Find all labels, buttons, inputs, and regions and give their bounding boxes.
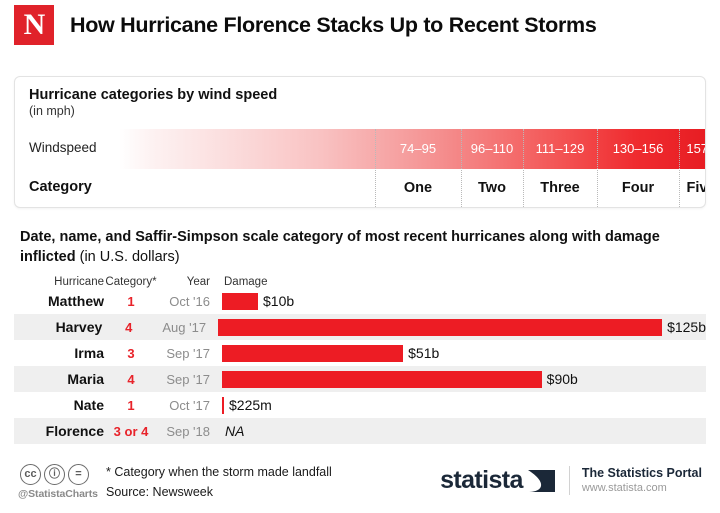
table-row: Irma3Sep '17$51b bbox=[14, 340, 706, 366]
damage-bar bbox=[222, 293, 258, 310]
category-four: Four bbox=[597, 169, 679, 208]
column-header-category: Category* bbox=[104, 276, 158, 288]
statista-wordmark: statista bbox=[440, 468, 523, 493]
cell-damage: $125b bbox=[218, 314, 706, 340]
windspeed-range-three: 111–129 bbox=[523, 129, 597, 169]
windspeed-row-label: Windspeed bbox=[29, 140, 97, 155]
panel-title: Hurricane categories by wind speed bbox=[15, 77, 705, 104]
column-header-damage: Damage bbox=[214, 276, 267, 288]
section-title-light: (in U.S. dollars) bbox=[80, 249, 180, 265]
cell-damage: $51b bbox=[222, 340, 706, 366]
cell-year: Sep '17 bbox=[158, 372, 214, 387]
statista-tagline-block: The Statistics Portal www.statista.com bbox=[569, 466, 702, 495]
section-title: Date, name, and Saffir-Simpson scale cat… bbox=[20, 228, 660, 267]
table-row: Matthew1Oct '16$10b bbox=[14, 288, 706, 314]
creative-commons-icons: cc ⓘ = bbox=[20, 464, 89, 485]
damage-value-label: $10b bbox=[263, 293, 294, 309]
cell-year: Oct '17 bbox=[158, 398, 214, 413]
windspeed-category-panel: Hurricane categories by wind speed (in m… bbox=[14, 76, 706, 208]
cell-category: 1 bbox=[104, 294, 158, 309]
category-row-label: Category bbox=[29, 179, 92, 195]
cell-damage: $225m bbox=[222, 392, 706, 418]
windspeed-range-one: 74–95 bbox=[375, 129, 461, 169]
cc-icon: cc bbox=[20, 464, 41, 485]
panel-subtitle: (in mph) bbox=[15, 104, 705, 120]
page-footer: cc ⓘ = @StatistaCharts * Category when t… bbox=[14, 462, 706, 508]
cell-hurricane-name: Matthew bbox=[20, 293, 104, 309]
cell-hurricane-name: Florence bbox=[20, 423, 104, 439]
cell-hurricane-name: Maria bbox=[20, 371, 104, 387]
windspeed-row: Windspeed 74–95 96–110 111–129 130–156 1… bbox=[15, 129, 706, 169]
statista-url-text: www.statista.com bbox=[582, 482, 702, 496]
cell-category: 1 bbox=[104, 398, 158, 413]
cell-damage: $90b bbox=[222, 366, 706, 392]
cell-category: 4 bbox=[102, 320, 155, 335]
category-five: Five bbox=[679, 169, 706, 208]
windspeed-range-two: 96–110 bbox=[461, 129, 523, 169]
table-row: Florence3 or 4Sep '18NA bbox=[14, 418, 706, 444]
damage-bar bbox=[222, 397, 224, 414]
damage-bar bbox=[218, 319, 662, 336]
statista-swoosh-icon bbox=[528, 470, 555, 492]
cell-year: Oct '16 bbox=[158, 294, 214, 309]
cell-damage: NA bbox=[222, 418, 706, 444]
cell-hurricane-name: Irma bbox=[20, 345, 104, 361]
table-header-row: Hurricane Category* Year Damage bbox=[14, 270, 706, 288]
damage-value-label: $125b bbox=[667, 319, 706, 335]
category-three: Three bbox=[523, 169, 597, 208]
statista-charts-handle: @StatistaCharts bbox=[18, 488, 98, 500]
damage-value-label: NA bbox=[225, 423, 244, 439]
cell-category: 3 or 4 bbox=[104, 424, 158, 439]
damage-bar bbox=[222, 345, 403, 362]
cc-attribution-person-icon: ⓘ bbox=[44, 464, 65, 485]
cell-damage: $10b bbox=[222, 288, 706, 314]
category-row: Category One Two Three Four Five bbox=[15, 169, 706, 208]
damage-value-label: $225m bbox=[229, 397, 272, 413]
table-row: Harvey4Aug '17$125b bbox=[14, 314, 706, 340]
category-one: One bbox=[375, 169, 461, 208]
statista-portal-text: The Statistics Portal bbox=[582, 466, 702, 482]
statista-branding: statista The Statistics Portal www.stati… bbox=[440, 466, 702, 495]
cell-hurricane-name: Harvey bbox=[20, 319, 102, 335]
windspeed-range-four: 130–156 bbox=[597, 129, 679, 169]
page-header: N How Hurricane Florence Stacks Up to Re… bbox=[0, 0, 720, 46]
footnote-category: * Category when the storm made landfall bbox=[106, 465, 332, 479]
damage-value-label: $51b bbox=[408, 345, 439, 361]
cell-year: Sep '17 bbox=[158, 346, 214, 361]
newsweek-logo-icon: N bbox=[14, 5, 54, 45]
damage-bar bbox=[222, 371, 542, 388]
table-row: Nate1Oct '17$225m bbox=[14, 392, 706, 418]
cell-category: 4 bbox=[104, 372, 158, 387]
page-title: How Hurricane Florence Stacks Up to Rece… bbox=[70, 13, 597, 38]
hurricane-damage-table: Hurricane Category* Year Damage Matthew1… bbox=[14, 270, 706, 444]
category-two: Two bbox=[461, 169, 523, 208]
cell-year: Aug '17 bbox=[155, 320, 210, 335]
damage-value-label: $90b bbox=[547, 371, 578, 387]
cell-year: Sep '18 bbox=[158, 424, 214, 439]
cc-no-derivatives-equals-icon: = bbox=[68, 464, 89, 485]
table-row: Maria4Sep '17$90b bbox=[14, 366, 706, 392]
cell-category: 3 bbox=[104, 346, 158, 361]
cell-hurricane-name: Nate bbox=[20, 397, 104, 413]
column-header-hurricane: Hurricane bbox=[20, 276, 104, 288]
footnote-source: Source: Newsweek bbox=[106, 485, 213, 499]
column-header-year: Year bbox=[158, 276, 214, 288]
windspeed-range-five: 157+ bbox=[679, 129, 706, 169]
